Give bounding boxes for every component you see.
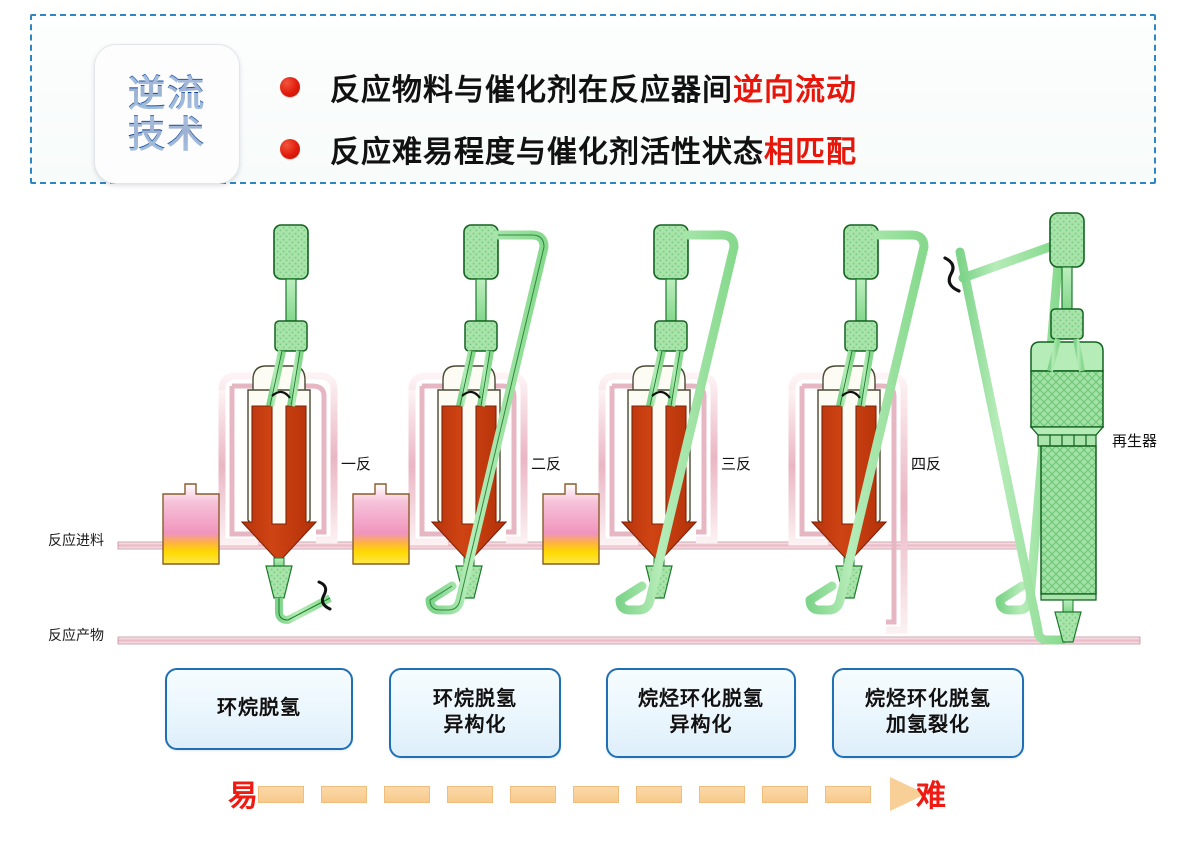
bullet-text-2: 反应难易程度与催化剂活性状态相匹配 — [330, 127, 857, 171]
bullet-dot-icon — [280, 77, 300, 97]
reactor-label-4: 四反 — [911, 453, 941, 474]
difficulty-scale: 易 难 — [0, 765, 1181, 825]
regenerator-label: 再生器 — [1112, 430, 1157, 451]
bullet-text-1: 反应物料与催化剂在反应器间逆向流动 — [330, 65, 857, 109]
process-box-3-text: 烷烃环化脱氢异构化 — [638, 687, 764, 738]
feed-stream-label: 反应进料 — [48, 530, 104, 550]
product-stream-label: 反应产物 — [48, 625, 104, 645]
bullet-list: 反应物料与催化剂在反应器间逆向流动 反应难易程度与催化剂活性状态相匹配 — [280, 56, 1160, 180]
reactor-label-2: 二反 — [531, 453, 561, 474]
bullet-item-1: 反应物料与催化剂在反应器间逆向流动 — [280, 56, 1160, 118]
difficulty-dash-segment — [384, 786, 430, 803]
difficulty-dash-segment — [762, 786, 808, 803]
difficulty-dash-segment — [573, 786, 619, 803]
badge-line-2: 技术 — [128, 114, 206, 155]
process-box-4: 烷烃环化脱氢加氢裂化 — [832, 668, 1024, 758]
product-header-line — [118, 637, 1140, 644]
header-panel: 逆流 技术 反应物料与催化剂在反应器间逆向流动 反应难易程度与催化剂活性状态相匹… — [30, 14, 1156, 184]
difficulty-dash-segment — [825, 786, 871, 803]
technology-badge: 逆流 技术 — [94, 44, 240, 184]
bullet-dot-icon — [280, 139, 300, 159]
bullet-item-2: 反应难易程度与催化剂活性状态相匹配 — [280, 118, 1160, 180]
bullet-text-2-highlight: 相匹配 — [764, 136, 857, 169]
bullet-text-1-plain: 反应物料与催化剂在反应器间 — [330, 74, 733, 107]
process-box-1: 环烷脱氢 — [165, 668, 353, 750]
difficulty-dash-segment — [636, 786, 682, 803]
process-box-2-text: 环烷脱氢异构化 — [433, 687, 517, 738]
bullet-text-2-plain: 反应难易程度与催化剂活性状态 — [330, 136, 764, 169]
reactor-label-1: 一反 — [341, 453, 371, 474]
difficulty-dash-segment — [321, 786, 367, 803]
difficulty-dash-segment — [447, 786, 493, 803]
difficulty-dashed-line — [258, 786, 888, 803]
difficulty-dash-segment — [258, 786, 304, 803]
difficulty-dash-segment — [699, 786, 745, 803]
difficulty-label-hard: 难 — [916, 771, 946, 815]
process-box-4-text: 烷烃环化脱氢加氢裂化 — [865, 687, 991, 738]
difficulty-label-easy: 易 — [228, 771, 258, 815]
badge-line-1: 逆流 — [128, 73, 206, 114]
difficulty-dash-segment — [510, 786, 556, 803]
process-box-3: 烷烃环化脱氢异构化 — [606, 668, 796, 758]
reactor-label-3: 三反 — [721, 453, 751, 474]
process-step-boxes: 环烷脱氢 环烷脱氢异构化 烷烃环化脱氢异构化 烷烃环化脱氢加氢裂化 — [0, 668, 1181, 768]
slide-canvas: 逆流 技术 反应物料与催化剂在反应器间逆向流动 反应难易程度与催化剂活性状态相匹… — [0, 0, 1181, 858]
reactor-unit-1 — [160, 225, 334, 620]
process-box-1-text: 环烷脱氢 — [217, 696, 301, 722]
bullet-text-1-highlight: 逆向流动 — [733, 74, 857, 107]
process-box-2: 环烷脱氢异构化 — [389, 668, 561, 758]
